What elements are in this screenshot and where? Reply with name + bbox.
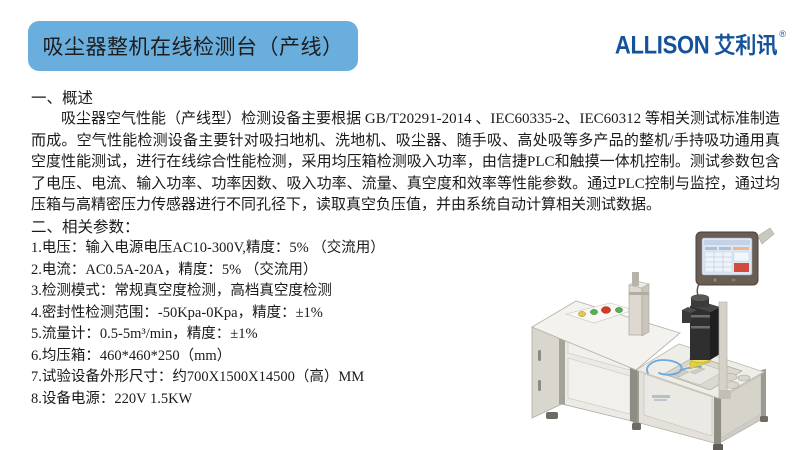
brand-logo: ALLISON 艾利讯 ® xyxy=(615,36,786,58)
cabinet-handle xyxy=(538,380,541,391)
cylinder-rod xyxy=(632,272,639,286)
indicator-light-yellow xyxy=(578,311,585,316)
cabinet-handle xyxy=(538,350,541,361)
page-title-box: 吸尘器整机在线检测台（产线） xyxy=(28,21,358,71)
logo-text-en: ALLISON xyxy=(615,33,709,58)
slide-root: 吸尘器整机在线检测台（产线） ALLISON 艾利讯 ® 一、概述 吸尘器空气性… xyxy=(0,0,800,450)
leveling-foot xyxy=(760,416,768,422)
lift-cylinder xyxy=(629,272,649,336)
hmi-button xyxy=(712,277,717,282)
leveling-foot xyxy=(546,412,558,419)
registered-trademark-icon: ® xyxy=(779,30,786,39)
section-one-heading: 一、概述 xyxy=(31,88,781,109)
overview-paragraph: 吸尘器空气性能（产线型）检测设备主要根据 GB/T20291-2014 、IEC… xyxy=(31,109,780,217)
leveling-foot xyxy=(713,444,723,450)
indicator-light-green xyxy=(590,309,597,314)
hmi-button xyxy=(731,278,736,282)
hmi-mount-bracket xyxy=(758,228,774,244)
equipment-photo xyxy=(518,222,800,450)
logo-text-cn: 艾利讯 xyxy=(714,35,777,57)
frame-post xyxy=(761,369,766,419)
frame-post xyxy=(714,396,721,445)
leveling-foot xyxy=(632,423,641,430)
indicator-light-green xyxy=(615,307,622,312)
hmi-post xyxy=(719,302,727,398)
page-title: 吸尘器整机在线检测台（产线） xyxy=(43,31,344,61)
emergency-stop-button xyxy=(601,307,610,314)
